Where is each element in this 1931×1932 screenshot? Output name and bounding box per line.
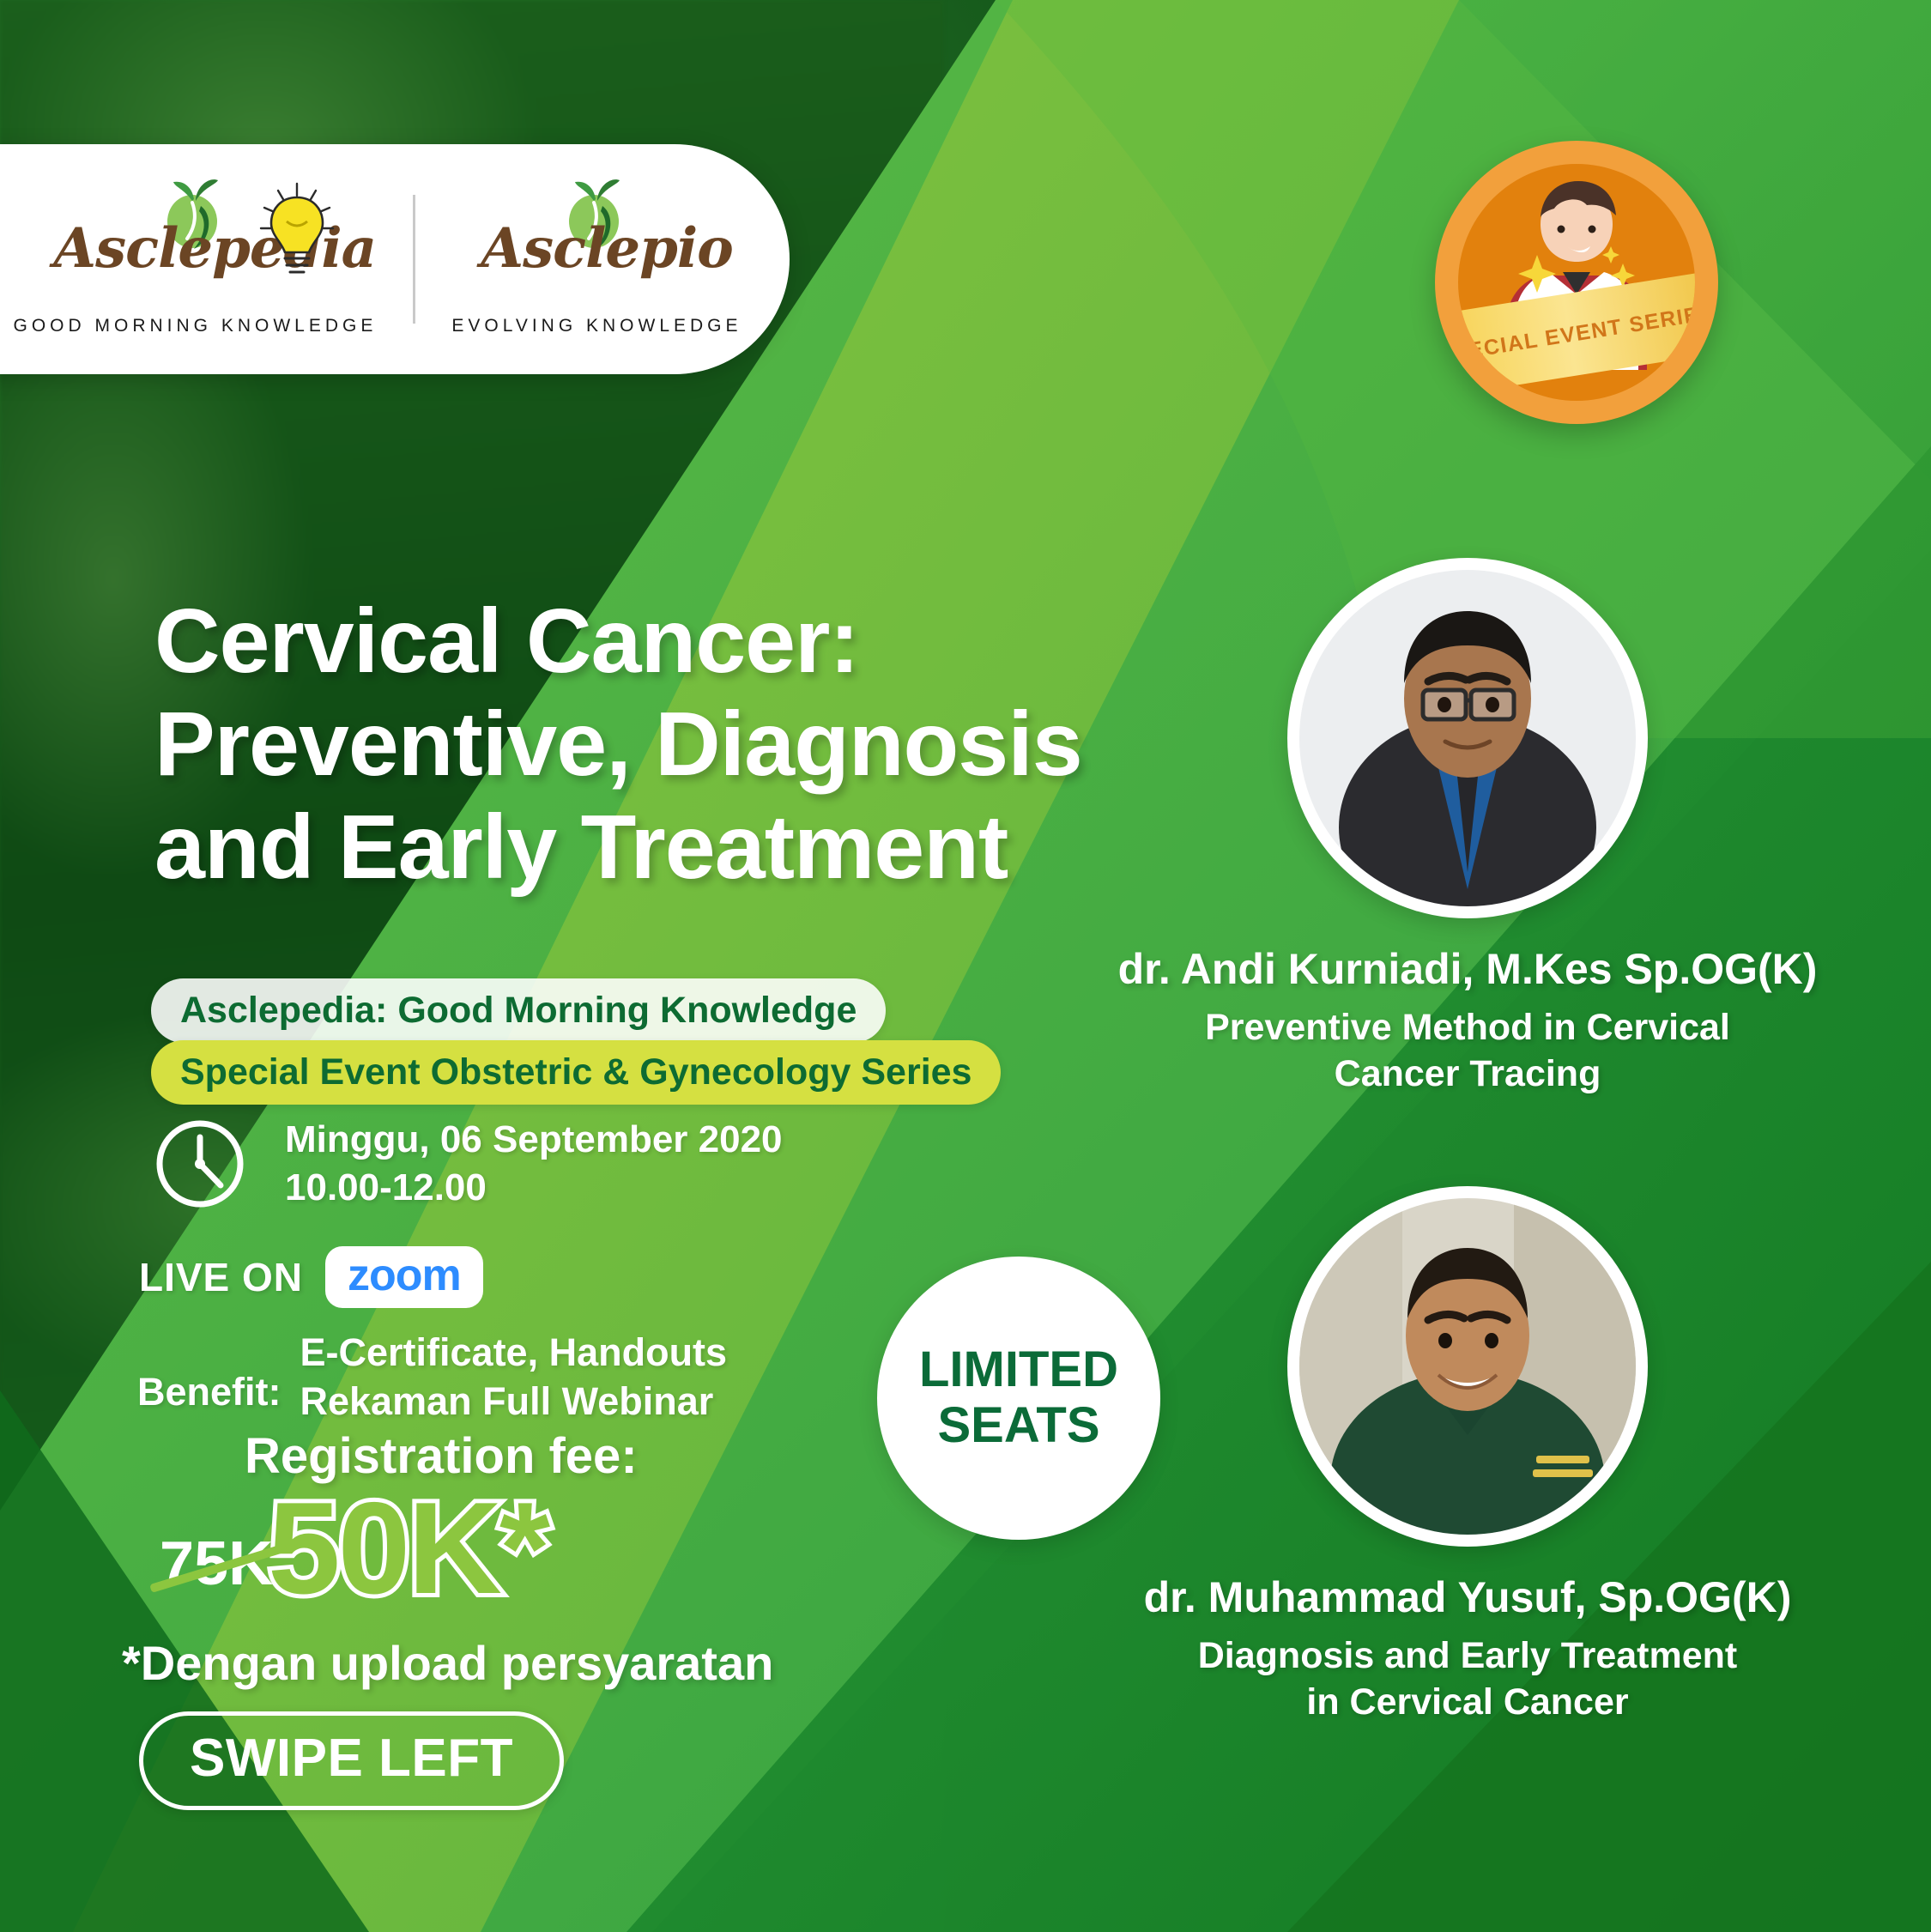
benefit-line-2: Rekaman Full Webinar <box>300 1378 728 1426</box>
speaker-2-avatar <box>1287 1186 1648 1547</box>
speaker-2-name: dr. Muhammad Yusuf, Sp.OG(K) <box>1081 1572 1854 1622</box>
clock-icon <box>153 1117 247 1211</box>
registration-fee-row: 75K 50K* <box>160 1483 548 1614</box>
webinar-poster: Asclepedia <box>0 0 1931 1932</box>
swipe-left-button[interactable]: SWIPE LEFT <box>139 1711 564 1810</box>
special-event-badge: SPECIAL EVENT SERIES <box>1435 141 1718 424</box>
benefit-line-1: E-Certificate, Handouts <box>300 1329 728 1378</box>
speaker-1-avatar <box>1287 558 1648 918</box>
live-platform-row: LIVE ON zoom <box>139 1246 483 1308</box>
speaker-card-1: dr. Andi Kurniadi, M.Kes Sp.OG(K) Preven… <box>1081 558 1854 1097</box>
benefit-label: Benefit: <box>137 1329 281 1414</box>
event-pill: Special Event Obstetric & Gynecology Ser… <box>151 1040 1001 1105</box>
asclepedia-tagline: GOOD MORNING KNOWLEDGE <box>13 316 377 336</box>
brand-logo-bar: Asclepedia <box>0 144 790 374</box>
badge-ribbon-text: SPECIAL EVENT SERIES <box>1458 300 1695 368</box>
speaker-1-portrait <box>1299 570 1636 906</box>
new-price: 50K* <box>268 1483 548 1614</box>
asclepio-mark: Asclepio <box>481 182 712 311</box>
schedule-text: Minggu, 06 September 2020 10.00-12.00 <box>285 1116 783 1213</box>
fee-note: *Dengan upload persyaratan <box>122 1635 773 1691</box>
logo-asclepedia: Asclepedia <box>13 182 377 336</box>
speaker-1-topic-line-2: Cancer Tracing <box>1081 1051 1854 1097</box>
benefit-row: Benefit: E-Certificate, Handouts Rekaman… <box>137 1329 727 1426</box>
speaker-2-portrait <box>1299 1198 1636 1535</box>
schedule-row: Minggu, 06 September 2020 10.00-12.00 <box>153 1116 783 1213</box>
old-price: 75K <box>160 1533 273 1595</box>
speaker-2-topic-line-2: in Cervical Cancer <box>1081 1679 1854 1725</box>
speaker-card-2: dr. Muhammad Yusuf, Sp.OG(K) Diagnosis a… <box>1081 1186 1854 1725</box>
logo-asclepio: Asclepio EVOLVING KNOWLEDGE <box>451 182 742 336</box>
speaker-2-topic: Diagnosis and Early Treatment in Cervica… <box>1081 1632 1854 1725</box>
lightbulb-icon <box>252 179 342 287</box>
speaker-1-topic-line-1: Preventive Method in Cervical <box>1081 1004 1854 1051</box>
asclepio-tagline: EVOLVING KNOWLEDGE <box>451 316 742 336</box>
schedule-date: Minggu, 06 September 2020 <box>285 1116 783 1164</box>
series-pill: Asclepedia: Good Morning Knowledge <box>151 978 886 1043</box>
asclepedia-mark: Asclepedia <box>53 182 336 311</box>
logo-divider <box>413 195 415 324</box>
benefit-values: E-Certificate, Handouts Rekaman Full Web… <box>300 1329 728 1426</box>
speaker-1-name: dr. Andi Kurniadi, M.Kes Sp.OG(K) <box>1081 944 1854 994</box>
speaker-1-topic: Preventive Method in Cervical Cancer Tra… <box>1081 1004 1854 1097</box>
schedule-time: 10.00-12.00 <box>285 1164 783 1212</box>
live-on-label: LIVE ON <box>139 1254 303 1300</box>
zoom-logo: zoom <box>325 1246 483 1308</box>
badge-inner: SPECIAL EVENT SERIES <box>1458 164 1695 401</box>
limited-seats-line-2: SEATS <box>937 1398 1099 1454</box>
speaker-2-topic-line-1: Diagnosis and Early Treatment <box>1081 1632 1854 1679</box>
zoom-wordmark: zoom <box>348 1253 461 1298</box>
asclepio-wordmark: Asclepio <box>481 216 712 281</box>
